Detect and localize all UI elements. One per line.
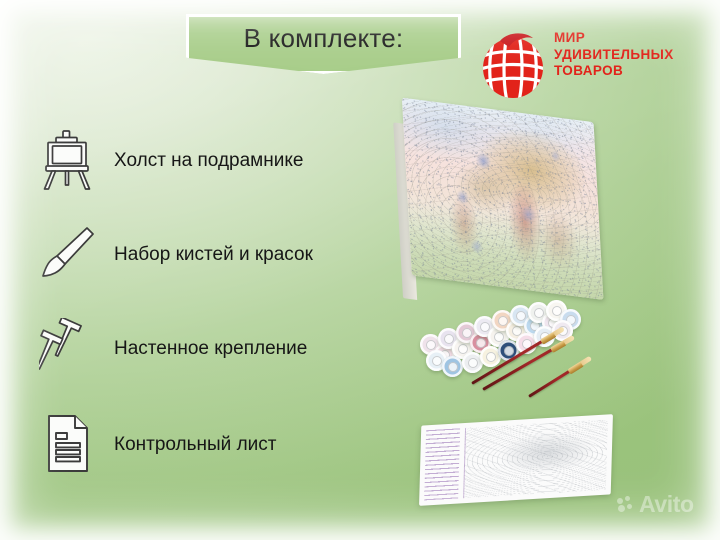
canvas-face <box>402 98 604 300</box>
paintbrush-icon <box>38 222 98 286</box>
logo-wordmark: МИР УДИВИТЕЛЬНЫХ ТОВАРОВ <box>554 30 674 80</box>
nails-icon <box>38 316 98 380</box>
brush-tip <box>580 356 592 366</box>
feature-label: Холст на подрамнике <box>114 148 303 173</box>
control-sheet-legend <box>424 428 460 500</box>
logo-line-2: УДИВИТЕЛЬНЫХ <box>554 47 674 64</box>
banner: В комплекте: <box>186 14 461 74</box>
globe-icon <box>476 28 550 102</box>
banner-title: В комплекте: <box>186 23 461 54</box>
feature-item-brushes: Набор кистей и красок <box>38 222 313 286</box>
feature-label: Контрольный лист <box>114 432 276 457</box>
brand-logo: МИР УДИВИТЕЛЬНЫХ ТОВАРОВ <box>476 26 666 104</box>
feature-item-wall-mount: Настенное крепление <box>38 316 307 380</box>
feature-label: Настенное крепление <box>114 336 307 361</box>
paint-pot <box>442 356 463 377</box>
painted-canvas-on-stretcher <box>393 105 603 306</box>
control-sheet <box>419 414 613 506</box>
avito-dots-icon <box>617 496 634 513</box>
brush-set <box>472 330 612 402</box>
feature-item-canvas: Холст на подрамнике <box>38 128 303 192</box>
avito-wordmark: Avito <box>639 493 694 516</box>
logo-line-1: МИР <box>554 30 674 47</box>
product-infographic: В комплекте: МИР УДИВИТЕЛЬНЫХ ТОВАРО <box>0 0 720 540</box>
brush-tip <box>563 335 575 345</box>
avito-watermark: Avito <box>617 493 694 516</box>
feature-item-control-sheet: Контрольный лист <box>38 412 276 476</box>
brush <box>528 370 571 398</box>
logo-line-3: ТОВАРОВ <box>554 63 674 80</box>
canvas-blue-accents <box>402 98 604 300</box>
easel-icon <box>38 128 98 192</box>
control-sheet-outline-drawing <box>463 419 608 498</box>
document-icon <box>38 412 98 476</box>
feature-label: Набор кистей и красок <box>114 242 313 267</box>
